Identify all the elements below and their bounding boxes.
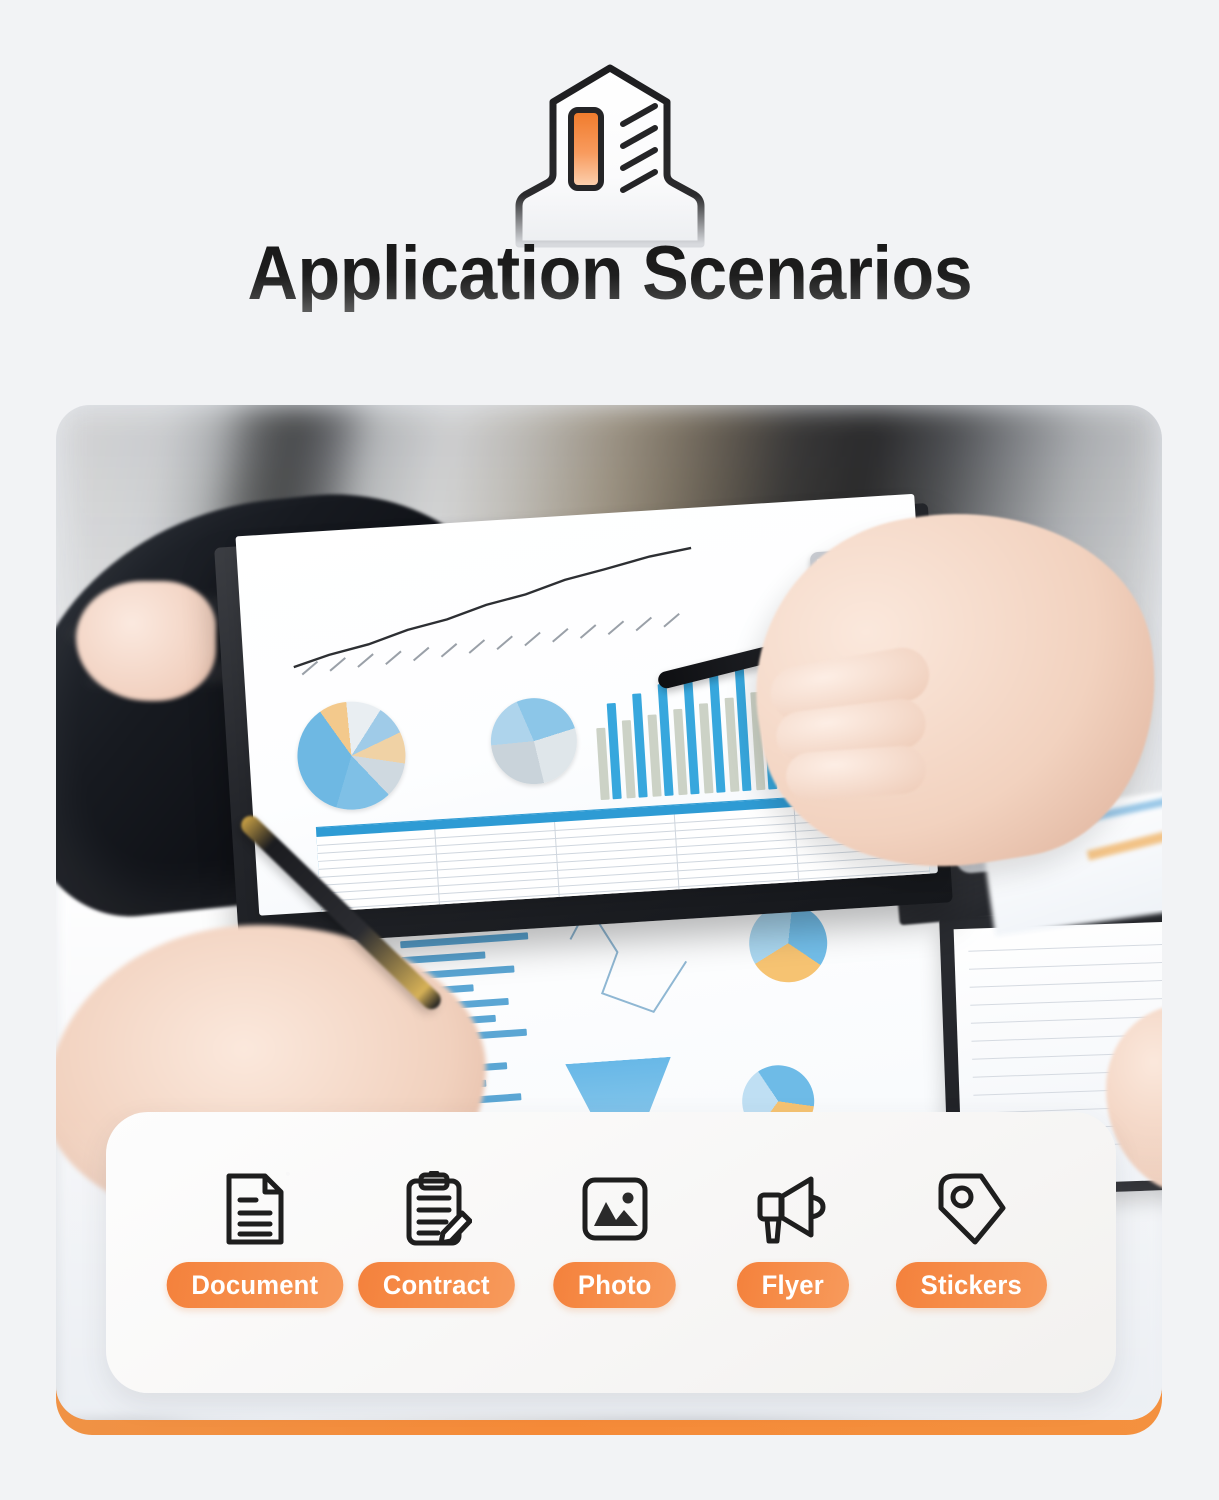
categories-row: Document [106, 1170, 1116, 1308]
category-item-flyer[interactable]: Flyer [704, 1170, 882, 1308]
page-header: Application Scenarios [0, 0, 1219, 392]
category-item-photo[interactable]: Photo [526, 1170, 704, 1308]
category-label-flyer[interactable]: Flyer [737, 1262, 849, 1308]
clipboard-pen-icon [402, 1170, 472, 1248]
price-tag-icon [935, 1170, 1007, 1248]
megaphone-icon [755, 1170, 831, 1248]
page-title: Application Scenarios [247, 236, 972, 312]
building-tower-icon [499, 62, 721, 248]
category-label-contract[interactable]: Contract [358, 1262, 514, 1308]
category-label-stickers[interactable]: Stickers [896, 1262, 1047, 1308]
page-title-row: Application Scenarios [0, 236, 1219, 312]
category-item-document[interactable]: Document [162, 1170, 348, 1308]
application-scenarios-page: Application Scenarios [0, 0, 1219, 1500]
categories-card: Document [106, 1112, 1116, 1393]
image-picture-icon [580, 1170, 650, 1248]
category-item-stickers[interactable]: Stickers [882, 1170, 1060, 1308]
document-page-icon [223, 1170, 287, 1248]
category-item-contract[interactable]: Contract [348, 1170, 526, 1308]
category-label-document[interactable]: Document [167, 1262, 343, 1308]
category-label-photo[interactable]: Photo [553, 1262, 676, 1308]
